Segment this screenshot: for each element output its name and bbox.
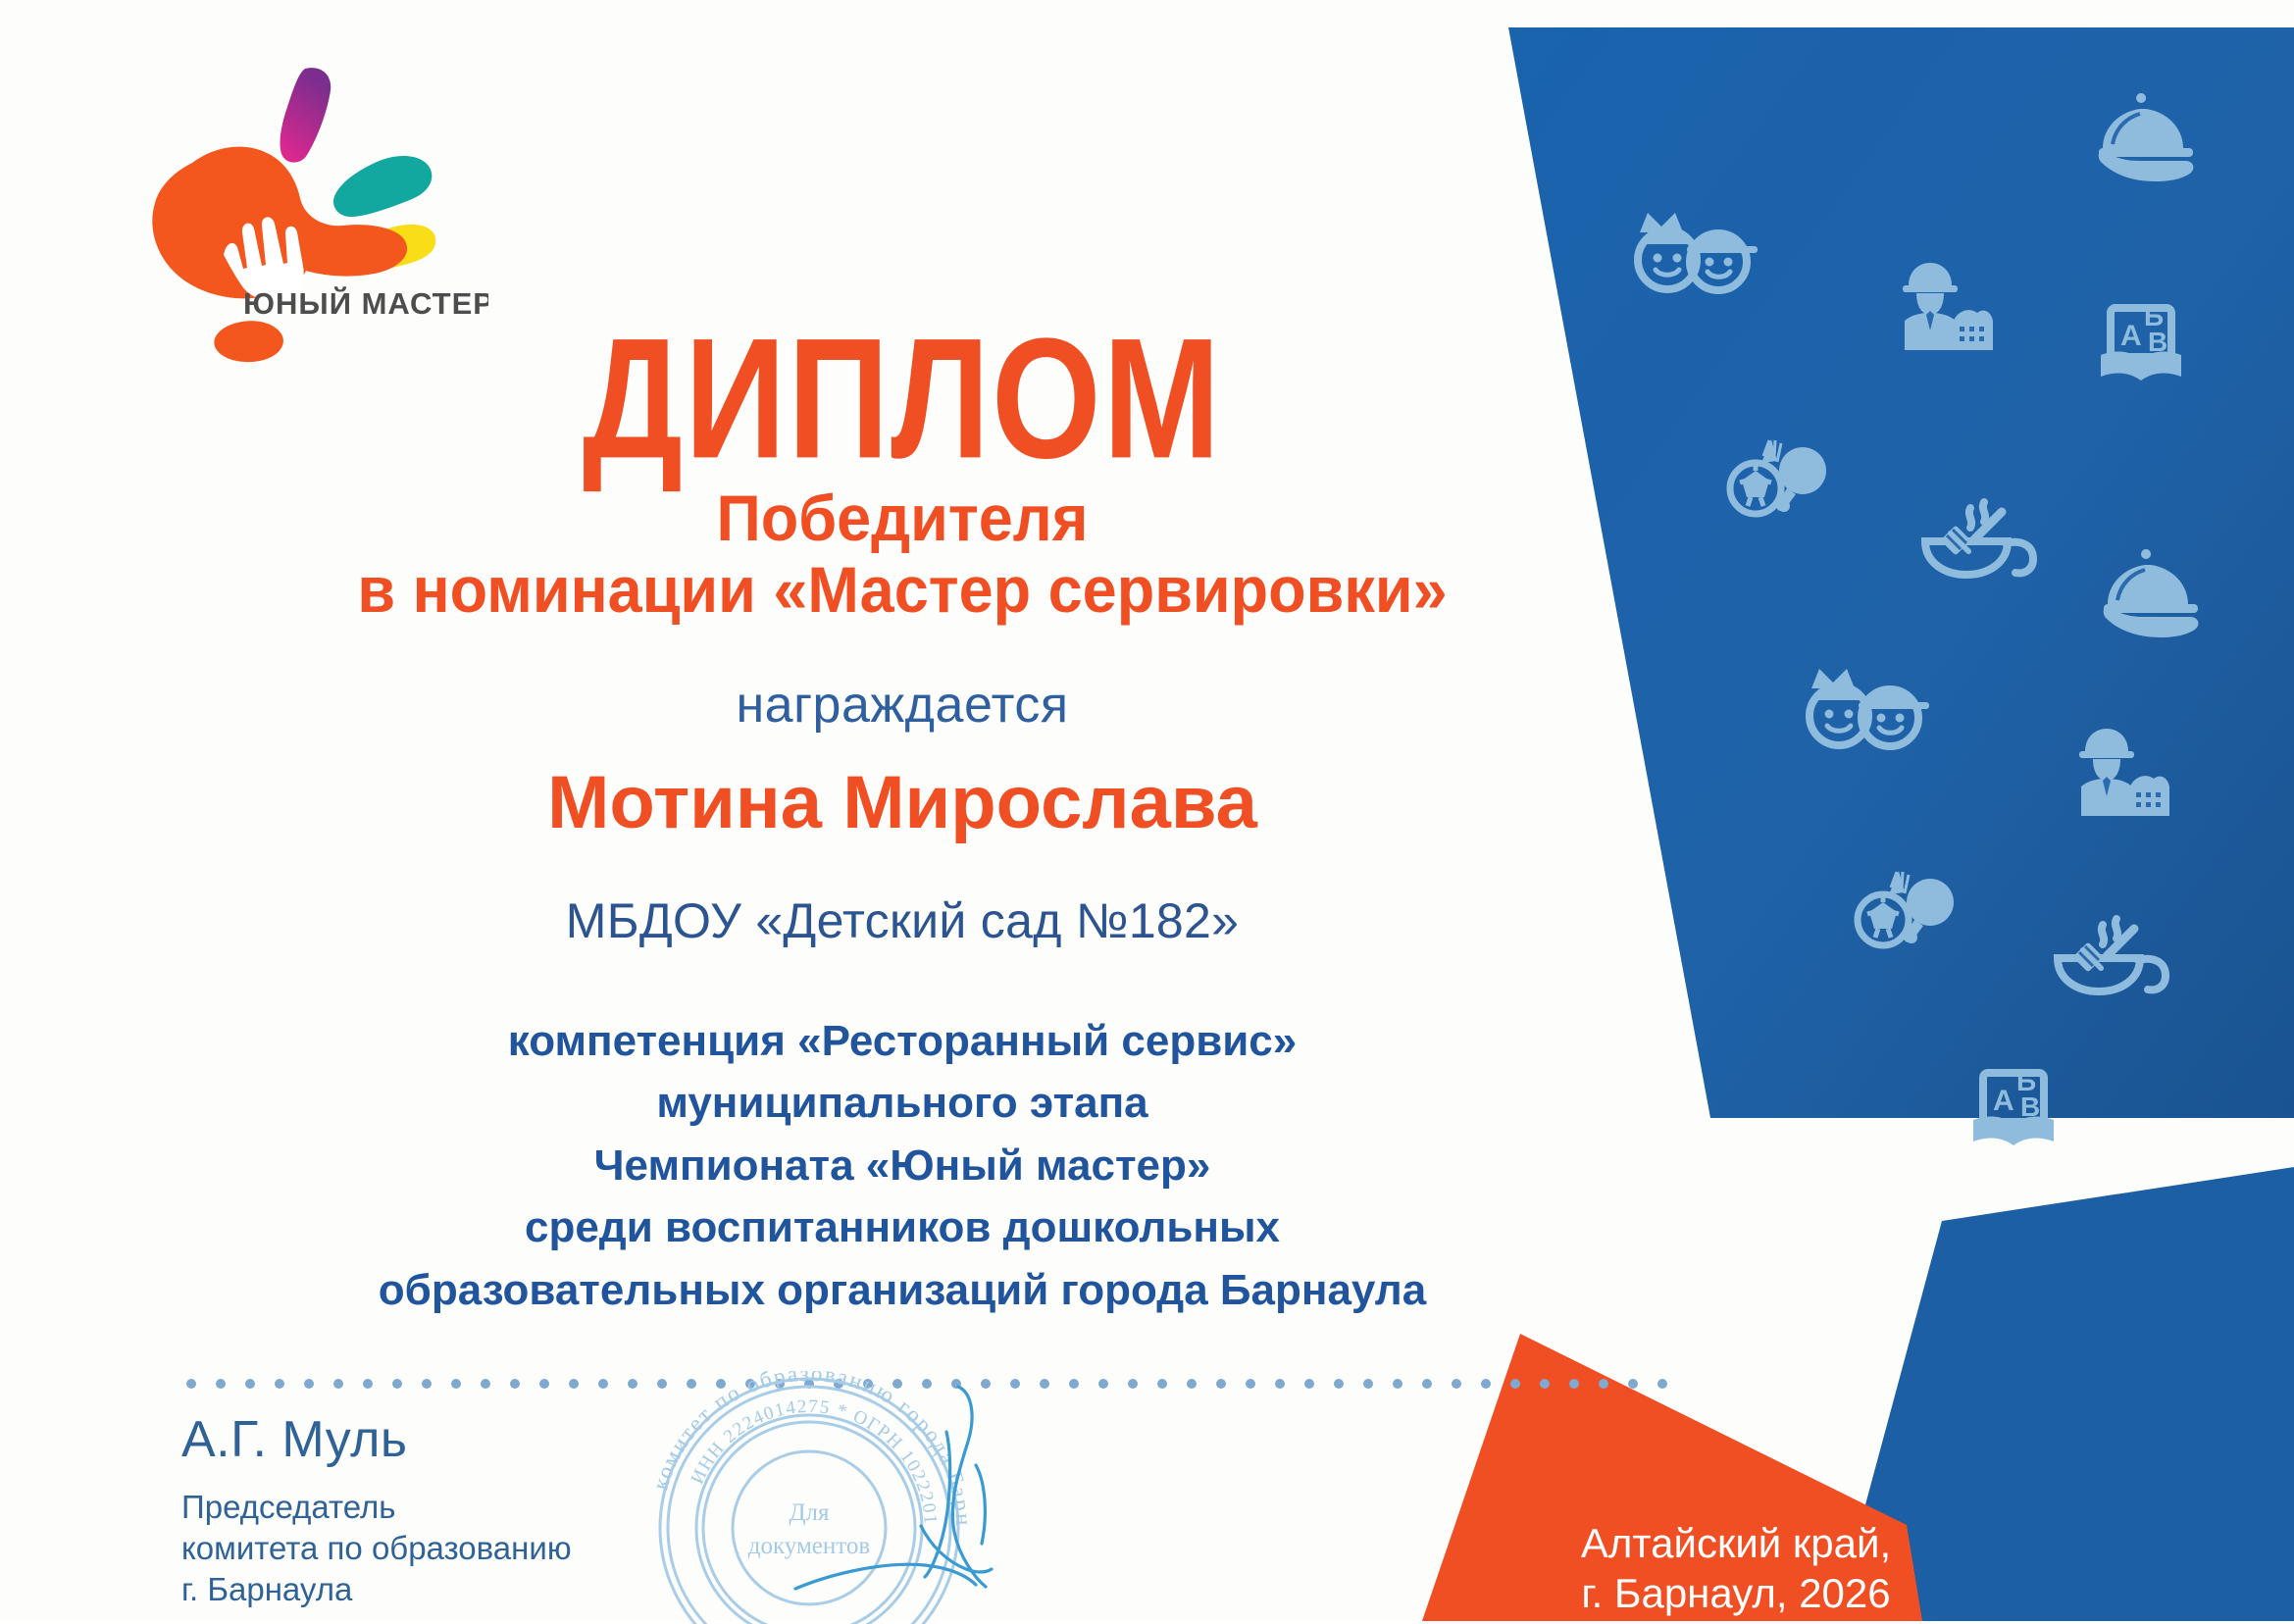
description-line: компетенция «Ресторанный сервис» — [294, 1010, 1510, 1072]
award-verb: награждается — [294, 676, 1510, 735]
recipient-organization: МБДОУ «Детский сад №182» — [294, 892, 1510, 949]
serving-tray-icon — [2099, 93, 2194, 181]
recipient-name: Мотина Мирослава — [294, 760, 1510, 845]
subtitle-winner: Победителя — [294, 482, 1510, 555]
frying-pan-icon — [1925, 502, 2033, 575]
description-line: Чемпионата «Юный мастер» — [294, 1135, 1510, 1196]
serving-tray-icon — [2104, 549, 2199, 637]
signature-block: А.Г. Муль Председатель комитета по образ… — [181, 1410, 790, 1611]
signatory-name: А.Г. Муль — [181, 1410, 790, 1469]
place-and-year: Алтайский край, г. Барнаул, 2026 — [1530, 1518, 1942, 1618]
stamp-center-line1: Для — [789, 1499, 830, 1526]
subtitle-nomination: в номинации «Мастер сервировки» — [294, 554, 1510, 627]
sports-ball-icon — [1858, 871, 1954, 945]
logo-finger-teal — [333, 156, 432, 217]
signatory-role-line: комитета по образованию — [181, 1528, 790, 1569]
abv-book-icon — [1973, 1066, 2054, 1145]
frying-pan-icon — [2058, 919, 2166, 991]
description-line: образовательных организаций города Барна… — [294, 1259, 1510, 1321]
logo-blob-bottom — [214, 321, 283, 362]
engineer-icon — [2079, 729, 2169, 816]
description-line: муниципального этапа — [294, 1072, 1510, 1134]
place-line: Алтайский край, — [1530, 1518, 1942, 1568]
logo-finger-purple — [280, 68, 331, 163]
certificate-body: ДИПЛОМ Победителя в номинации «Мастер се… — [294, 314, 1510, 1321]
description-line: среди воспитанников дошкольных — [294, 1196, 1510, 1258]
sports-ball-icon — [1730, 439, 1826, 514]
abv-book-icon — [2101, 301, 2181, 381]
signatory-role-line: Председатель — [181, 1487, 790, 1528]
blue-panel-top — [1508, 27, 2294, 1118]
place-line: г. Барнаул, 2026 — [1530, 1568, 1942, 1618]
kids-faces-icon — [1810, 669, 1929, 746]
blue-panel-bottom-wedge — [1710, 1118, 1903, 1265]
signatory-role-line: г. Барнаула — [181, 1569, 790, 1610]
signatory-role: Председатель комитета по образованию г. … — [181, 1487, 790, 1611]
engineer-icon — [1903, 263, 1993, 350]
kids-faces-icon — [1638, 213, 1758, 290]
page-title: ДИПЛОМ — [313, 314, 1493, 485]
competition-description: компетенция «Ресторанный сервис» муницип… — [294, 1010, 1510, 1321]
